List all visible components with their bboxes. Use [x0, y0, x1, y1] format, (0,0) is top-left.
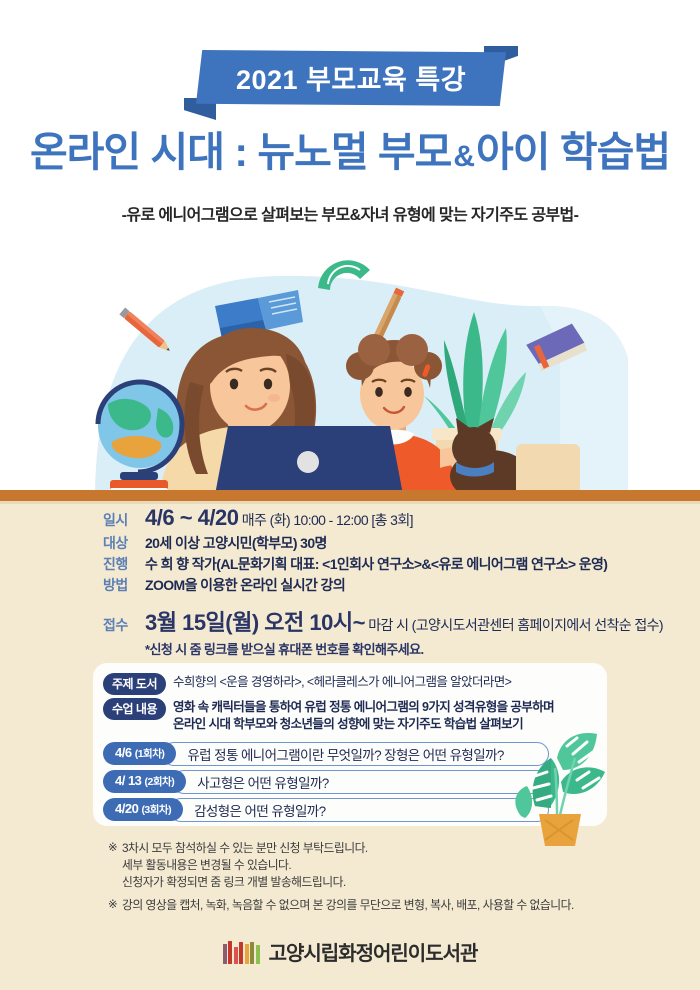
session-badge-1: 4/6 (1회차)	[103, 742, 176, 765]
book-text: 수희향의 <운을 경영하라>, <헤라클레스가 에니어그램을 알았더라면>	[173, 673, 511, 691]
footnote-lines-2: 강의 영상을 캡처, 녹화, 녹음할 수 없으며 본 강의를 무단으로 변형, …	[122, 897, 574, 914]
footnote-block-1: ※ 3차시 모두 참석하실 수 있는 분만 신청 부탁드립니다. 세부 활동내용…	[108, 840, 668, 891]
logo-bar	[239, 942, 243, 964]
info-value-date: 4/6 ~ 4/20 매주 (화) 10:00 - 12:00 [총 3회]	[145, 505, 413, 531]
info-row-registration: 접수 3월 15일(월) 오전 10시~ 마감 시 (고양시도서관센터 홈페이지…	[103, 605, 700, 637]
curriculum-card: 주제 도서 수희향의 <운을 경영하라>, <헤라클레스가 에니어그램을 알았더…	[93, 663, 607, 826]
footnote-lines-1: 3차시 모두 참석하실 수 있는 분만 신청 부탁드립니다. 세부 활동내용은 …	[122, 840, 368, 891]
session-date-2: 4/ 13	[115, 773, 141, 788]
illustration-svg	[0, 236, 700, 500]
session-row-1[interactable]: 4/6 (1회차) 유럽 정통 에니어그램이란 무엇일까? 장형은 어떤 유형일…	[103, 742, 607, 766]
footnote-1-line-3: 신청자가 확정되면 줌 링크 개별 발송해드립니다.	[122, 875, 346, 889]
footnotes: ※ 3차시 모두 참석하실 수 있는 분만 신청 부탁드립니다. 세부 활동내용…	[108, 840, 668, 920]
registration-detail: 마감 시 (고양시도서관센터 홈페이지에서 선착순 접수)	[368, 617, 663, 633]
laptop-icon	[214, 426, 404, 500]
logo-bar	[228, 941, 232, 964]
desk-shadow	[0, 501, 700, 504]
page-title-part1: 온라인 시대 : 뉴노멀 부모	[30, 129, 451, 175]
info-row-instructor: 진행 수 희 향 작가(AL문화기획 대표: <1인회사 연구소>&<유로 에니…	[103, 554, 700, 574]
content-pill-badge: 수업 내용	[103, 698, 166, 720]
info-row-target: 대상 20세 이상 고양시민(학부모) 30명	[103, 533, 700, 553]
footnote-mark-1: ※	[108, 840, 122, 891]
card-row-book: 주제 도서 수희향의 <운을 경영하라>, <헤라클레스가 에니어그램을 알았더…	[103, 673, 607, 695]
page-title: 온라인 시대 : 뉴노멀 부모&아이 학습법	[0, 118, 700, 178]
session-topic-1: 유럽 정통 에니어그램이란 무엇일까? 장형은 어떤 유형일까?	[162, 742, 549, 766]
page-title-part2: 아이 학습법	[476, 129, 670, 175]
content-line-1: 영화 속 캐릭터들을 통하여 유럽 정통 에니어그램의 9가지 성격유형을 공부…	[173, 700, 554, 714]
session-row-3[interactable]: 4/20 (3회차) 감성형은 어떤 유형일까?	[103, 798, 607, 822]
session-row-2[interactable]: 4/ 13 (2회차) 사고형은 어떤 유형일까?	[103, 770, 607, 794]
library-logo: 고양시립화정어린이도서관	[0, 937, 700, 966]
session-badge-3: 4/20 (3회차)	[103, 798, 183, 821]
logo-bar	[245, 944, 249, 964]
ribbon-label: 2021 부모교육 특강	[236, 58, 466, 97]
info-value-instructor: 수 희 향 작가(AL문화기획 대표: <1인회사 연구소>&<유로 에니어그램…	[145, 554, 607, 574]
session-date-3: 4/20	[115, 801, 138, 816]
footnote-block-2: ※ 강의 영상을 캡처, 녹화, 녹음할 수 없으며 본 강의를 무단으로 변형…	[108, 897, 668, 914]
ribbon-banner: 2021 부모교육 특강	[0, 56, 700, 118]
session-ordinal-2: (2회차)	[145, 776, 175, 788]
info-date-range: 4/6 ~ 4/20	[145, 505, 238, 530]
session-badge-2: 4/ 13 (2회차)	[103, 770, 186, 793]
info-value-method: ZOOM을 이용한 온라인 실시간 강의	[145, 575, 345, 595]
footnote-1-line-1: 3차시 모두 참석하실 수 있는 분만 신청 부탁드립니다.	[122, 841, 368, 855]
footnote-mark-2: ※	[108, 897, 122, 914]
logo-bar	[223, 944, 227, 964]
session-topic-2: 사고형은 어떤 유형일까?	[172, 770, 549, 794]
content-line-2: 온라인 시대 학부모와 청소년들의 성향에 맞는 자기주도 학습법 살펴보기	[173, 717, 523, 731]
session-ordinal-1: (1회차)	[135, 748, 165, 760]
info-value-target: 20세 이상 고양시민(학부모) 30명	[145, 533, 327, 553]
page-subtitle: -유로 에니어그램으로 살펴보는 부모&자녀 유형에 맞는 자기주도 공부법-	[0, 201, 700, 225]
info-row-method: 방법 ZOOM을 이용한 온라인 실시간 강의	[103, 575, 700, 595]
registration-note: *신청 시 줌 링크를 받으실 휴대폰 번호를 확인해주세요.	[145, 639, 700, 658]
logo-books-icon	[223, 940, 260, 964]
info-label-target: 대상	[103, 533, 145, 553]
info-label-instructor: 진행	[103, 554, 145, 574]
info-label-registration: 접수	[103, 615, 145, 635]
logo-bar	[256, 945, 260, 964]
card-row-content: 수업 내용 영화 속 캐릭터들을 통하여 유럽 정통 에니어그램의 9가지 성격…	[103, 698, 607, 733]
info-date-detail: 매주 (화) 10:00 - 12:00 [총 3회]	[242, 512, 413, 528]
session-topic-3: 감성형은 어떤 유형일까?	[169, 798, 549, 822]
library-name: 고양시립화정어린이도서관	[269, 937, 478, 966]
info-value-registration: 3월 15일(월) 오전 10시~ 마감 시 (고양시도서관센터 홈페이지에서 …	[145, 605, 663, 637]
info-block: 일시 4/6 ~ 4/20 매주 (화) 10:00 - 12:00 [총 3회…	[0, 505, 700, 683]
info-label-method: 방법	[103, 575, 145, 595]
footnote-2-line-1: 강의 영상을 캡처, 녹화, 녹음할 수 없으며 본 강의를 무단으로 변형, …	[122, 898, 574, 912]
content-text: 영화 속 캐릭터들을 통하여 유럽 정통 에니어그램의 9가지 성격유형을 공부…	[173, 698, 554, 733]
desk-band	[0, 490, 700, 501]
book-pill-badge: 주제 도서	[103, 673, 166, 695]
info-row-date: 일시 4/6 ~ 4/20 매주 (화) 10:00 - 12:00 [총 3회…	[103, 505, 700, 531]
registration-open-time: 3월 15일(월) 오전 10시~	[145, 610, 365, 635]
session-ordinal-3: (3회차)	[141, 804, 171, 816]
session-list: 4/6 (1회차) 유럽 정통 에니어그램이란 무엇일까? 장형은 어떤 유형일…	[103, 742, 607, 822]
page-title-ampersand: &	[451, 140, 476, 173]
poster-root: 2021 부모교육 특강 온라인 시대 : 뉴노멀 부모&아이 학습법 -유로 …	[0, 0, 700, 990]
ribbon-body: 2021 부모교육 특강	[196, 50, 506, 106]
logo-bar	[234, 947, 238, 964]
hero-illustration	[0, 236, 700, 500]
session-date-1: 4/6	[115, 745, 132, 760]
info-label-date: 일시	[103, 510, 145, 530]
footnote-1-line-2: 세부 활동내용은 변경될 수 있습니다.	[122, 858, 291, 872]
poster-header: 2021 부모교육 특강 온라인 시대 : 뉴노멀 부모&아이 학습법 -유로 …	[0, 0, 700, 240]
logo-bar	[250, 942, 254, 964]
